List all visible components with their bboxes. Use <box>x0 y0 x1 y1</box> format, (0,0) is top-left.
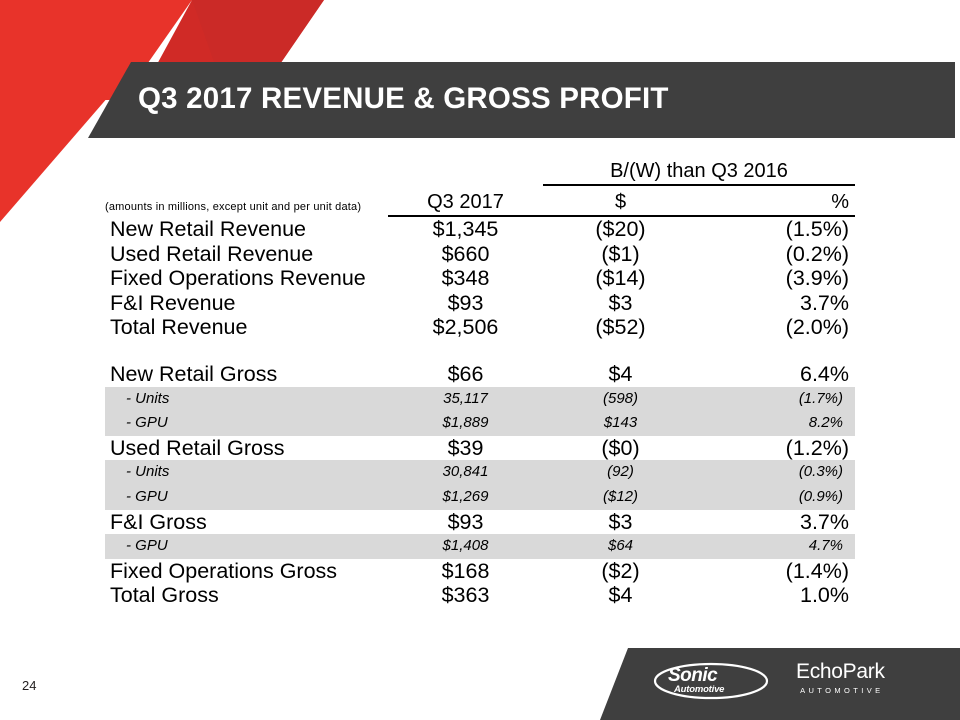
row-percent-change: (0.3%) <box>698 460 855 485</box>
header-span-spacer <box>105 160 388 185</box>
row-label: New Retail Gross <box>105 362 388 387</box>
row-dollar-change: $3 <box>543 291 698 316</box>
column-header-percent: % <box>698 191 855 216</box>
echopark-subtext: AUTOMOTIVE <box>796 686 885 695</box>
row-label: - GPU <box>105 534 388 559</box>
row-label: - GPU <box>105 411 388 436</box>
table-row: F&I Gross$93$33.7% <box>105 510 855 535</box>
row-label: Total Revenue <box>105 315 388 340</box>
table-row: Used Retail Gross$39($0)(1.2%) <box>105 436 855 461</box>
row-label: F&I Revenue <box>105 291 388 316</box>
row-dollar-change: ($14) <box>543 266 698 291</box>
row-dollar-change: ($52) <box>543 315 698 340</box>
row-value: $39 <box>388 436 543 461</box>
row-dollar-change: $4 <box>543 362 698 387</box>
table-row: Fixed Operations Gross$168($2)(1.4%) <box>105 559 855 584</box>
row-label: Used Retail Gross <box>105 436 388 461</box>
header-span-row: B/(W) than Q3 2016 <box>105 160 855 185</box>
row-percent-change: 1.0% <box>698 583 855 608</box>
table-spacer-row <box>105 340 855 362</box>
table-row: New Retail Revenue$1,345($20)(1.5%) <box>105 216 855 242</box>
page-number: 24 <box>22 678 36 693</box>
row-dollar-change: $64 <box>543 534 698 559</box>
row-value: $1,889 <box>388 411 543 436</box>
row-dollar-change: ($0) <box>543 436 698 461</box>
row-percent-change: (2.0%) <box>698 315 855 340</box>
row-percent-change: (1.4%) <box>698 559 855 584</box>
row-value: $1,345 <box>388 216 543 242</box>
header-span-spacer-value <box>388 160 543 185</box>
row-value: $1,269 <box>388 485 543 510</box>
table-row: - GPU$1,269($12)(0.9%) <box>105 485 855 510</box>
row-label: F&I Gross <box>105 510 388 535</box>
row-label: - Units <box>105 387 388 412</box>
header-comparison-label: B/(W) than Q3 2016 <box>543 160 855 185</box>
financial-table-container: B/(W) than Q3 2016 (amounts in millions,… <box>0 160 960 608</box>
row-dollar-change: ($1) <box>543 242 698 267</box>
row-value: $1,408 <box>388 534 543 559</box>
echopark-automotive-logo: EchoPark AUTOMOTIVE <box>796 660 885 695</box>
table-header: B/(W) than Q3 2016 (amounts in millions,… <box>105 160 855 216</box>
row-percent-change: 3.7% <box>698 510 855 535</box>
row-value: $93 <box>388 291 543 316</box>
table-row: New Retail Gross$66$46.4% <box>105 362 855 387</box>
row-percent-change: (1.2%) <box>698 436 855 461</box>
row-value: $348 <box>388 266 543 291</box>
row-label: Total Gross <box>105 583 388 608</box>
slide-canvas: Q3 2017 REVENUE & GROSS PROFIT B/(W) tha… <box>0 0 960 720</box>
page-title: Q3 2017 REVENUE & GROSS PROFIT <box>138 82 669 116</box>
amounts-note: (amounts in millions, except unit and pe… <box>105 191 388 216</box>
row-value: 35,117 <box>388 387 543 412</box>
row-label: New Retail Revenue <box>105 216 388 242</box>
row-dollar-change: ($12) <box>543 485 698 510</box>
row-dollar-change: $4 <box>543 583 698 608</box>
table-row: Used Retail Revenue$660($1)(0.2%) <box>105 242 855 267</box>
table-row: - GPU$1,408$644.7% <box>105 534 855 559</box>
sonic-automotive-logo: Sonic Automotive <box>652 660 770 704</box>
column-header-dollar: $ <box>543 191 698 216</box>
echopark-wordmark: EchoPark <box>796 660 885 683</box>
table-row: F&I Revenue$93$33.7% <box>105 291 855 316</box>
row-percent-change: (1.7%) <box>698 387 855 412</box>
row-dollar-change: $3 <box>543 510 698 535</box>
table-row: Total Gross$363$41.0% <box>105 583 855 608</box>
table-spacer-cell <box>105 340 855 362</box>
row-value: $168 <box>388 559 543 584</box>
sonic-oval-badge: Sonic Automotive <box>652 660 770 704</box>
table-row: - GPU$1,889$1438.2% <box>105 411 855 436</box>
row-value: $363 <box>388 583 543 608</box>
row-percent-change: (0.9%) <box>698 485 855 510</box>
row-percent-change: (3.9%) <box>698 266 855 291</box>
row-percent-change: 4.7% <box>698 534 855 559</box>
row-percent-change: (0.2%) <box>698 242 855 267</box>
row-label: - GPU <box>105 485 388 510</box>
table-row: Total Revenue$2,506($52)(2.0%) <box>105 315 855 340</box>
row-label: Used Retail Revenue <box>105 242 388 267</box>
table-row: - Units30,841(92)(0.3%) <box>105 460 855 485</box>
table-body: New Retail Revenue$1,345($20)(1.5%)Used … <box>105 216 855 608</box>
row-value: $2,506 <box>388 315 543 340</box>
row-value: $66 <box>388 362 543 387</box>
sonic-subtext: Automotive <box>674 684 724 695</box>
table-row: Fixed Operations Revenue$348($14)(3.9%) <box>105 266 855 291</box>
row-dollar-change: (92) <box>543 460 698 485</box>
row-label: - Units <box>105 460 388 485</box>
row-value: 30,841 <box>388 460 543 485</box>
row-label: Fixed Operations Gross <box>105 559 388 584</box>
row-label: Fixed Operations Revenue <box>105 266 388 291</box>
row-dollar-change: (598) <box>543 387 698 412</box>
header-columns-row: (amounts in millions, except unit and pe… <box>105 191 855 216</box>
row-value: $93 <box>388 510 543 535</box>
row-dollar-change: ($20) <box>543 216 698 242</box>
row-percent-change: (1.5%) <box>698 216 855 242</box>
row-dollar-change: $143 <box>543 411 698 436</box>
row-dollar-change: ($2) <box>543 559 698 584</box>
row-percent-change: 3.7% <box>698 291 855 316</box>
row-percent-change: 8.2% <box>698 411 855 436</box>
column-header-period: Q3 2017 <box>388 191 543 216</box>
row-percent-change: 6.4% <box>698 362 855 387</box>
row-value: $660 <box>388 242 543 267</box>
table-row: - Units35,117(598)(1.7%) <box>105 387 855 412</box>
echopark-lockup: EchoPark AUTOMOTIVE <box>796 660 885 695</box>
financial-table: B/(W) than Q3 2016 (amounts in millions,… <box>105 160 855 608</box>
